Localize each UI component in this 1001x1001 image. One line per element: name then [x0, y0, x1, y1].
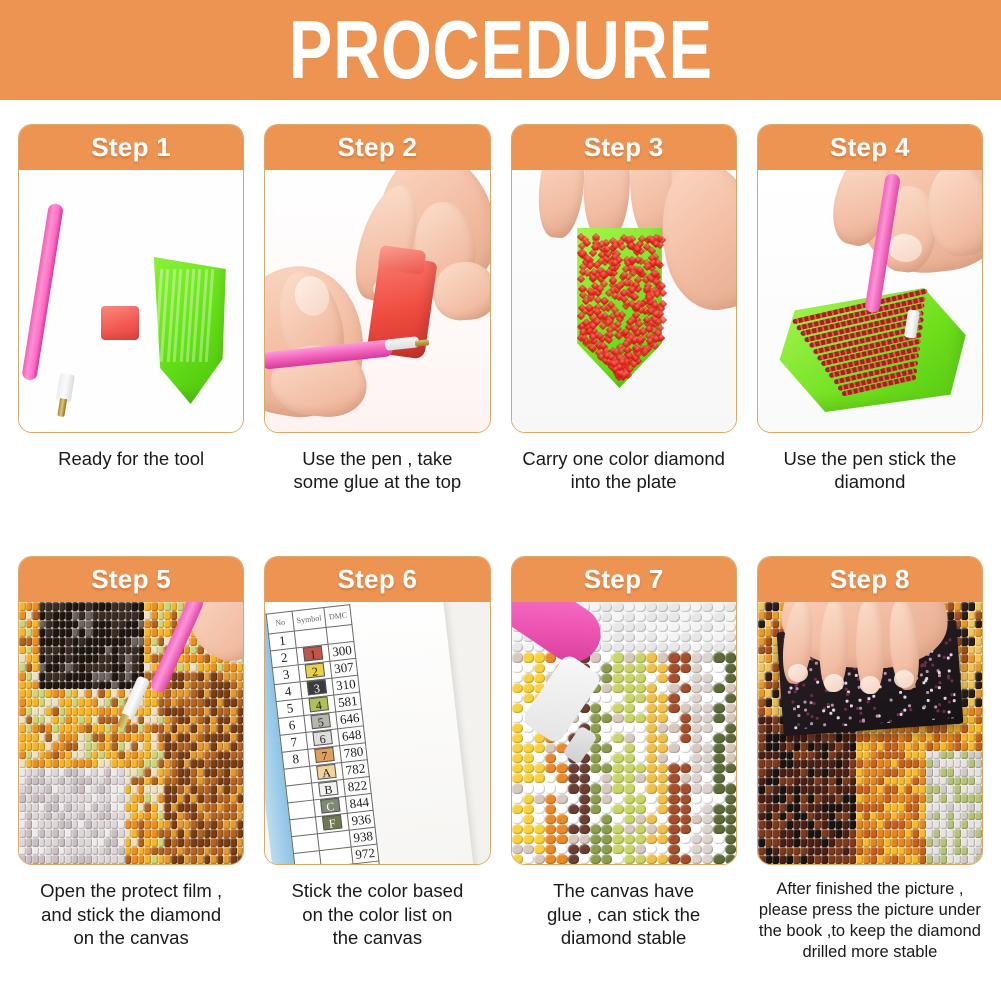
step-card-7: Step 7 The canvas have glue , can stick … [511, 556, 737, 997]
tray-illustration [149, 254, 229, 404]
step-6-header: Step 6 [265, 557, 489, 602]
step-3-image [512, 170, 736, 432]
step-card-2: Step 2 [264, 124, 490, 528]
step-6-card: Step 6 NoSymbolDMC1213003230743310545816… [264, 556, 490, 865]
step-5-caption: Open the protect film , and stick the di… [18, 879, 244, 949]
step-3-caption: Carry one color diamond into the plate [511, 447, 737, 494]
step-5-card: Step 5 [18, 556, 244, 865]
step-7-header: Step 7 [512, 557, 736, 602]
step-6-caption: Stick the color based on the color list … [264, 879, 490, 949]
step-4-caption: Use the pen stick the diamond [757, 447, 983, 494]
step-card-1: Step 1 [18, 124, 244, 528]
color-chart-no [294, 851, 322, 864]
step-3-card: Step 3 [511, 124, 737, 433]
diamond-rows-illustration [788, 298, 948, 398]
step-card-6: Step 6 NoSymbolDMC1213003230743310545816… [264, 556, 490, 997]
step-5-header: Step 5 [19, 557, 243, 602]
step-4-image [758, 170, 982, 432]
step-2-image [265, 170, 489, 432]
step-6-image: NoSymbolDMC12130032307433105458165646766… [265, 602, 489, 864]
step-5-image [19, 602, 243, 864]
step-8-caption: After finished the picture , please pres… [757, 879, 983, 963]
step-1-caption: Ready for the tool [18, 447, 244, 470]
step-1-image [19, 170, 243, 432]
step-2-header: Step 2 [265, 125, 489, 170]
step-card-8: Step 8 [757, 556, 983, 997]
page-banner: PROCEDURE [0, 0, 1001, 100]
procedure-infographic: PROCEDURE Step 1 [0, 0, 1001, 1001]
step-7-image [512, 602, 736, 864]
step-2-caption: Use the pen , take some glue at the top [264, 447, 490, 494]
step-2-card: Step 2 [264, 124, 490, 433]
red-diamonds-illustration [578, 234, 662, 374]
step-7-card: Step 7 [511, 556, 737, 865]
step-3-header: Step 3 [512, 125, 736, 170]
page-title: PROCEDURE [288, 9, 712, 92]
step-4-card: Step 4 [757, 124, 983, 433]
step-8-card: Step 8 [757, 556, 983, 865]
step-card-3: Step 3 Carry one colo [511, 124, 737, 528]
step-card-4: Step 4 [757, 124, 983, 528]
step-8-image [758, 602, 982, 864]
steps-grid: Step 1 [0, 100, 1001, 1001]
step-7-caption: The canvas have glue , can stick the dia… [511, 879, 737, 949]
color-chart-symbol [320, 847, 354, 864]
wax-square-illustration [101, 306, 139, 340]
step-8-header: Step 8 [758, 557, 982, 602]
step-4-header: Step 4 [758, 125, 982, 170]
step-1-card: Step 1 [18, 124, 244, 433]
step-1-header: Step 1 [19, 125, 243, 170]
step-card-5: Step 5 Open the protect film , and stick… [18, 556, 244, 997]
